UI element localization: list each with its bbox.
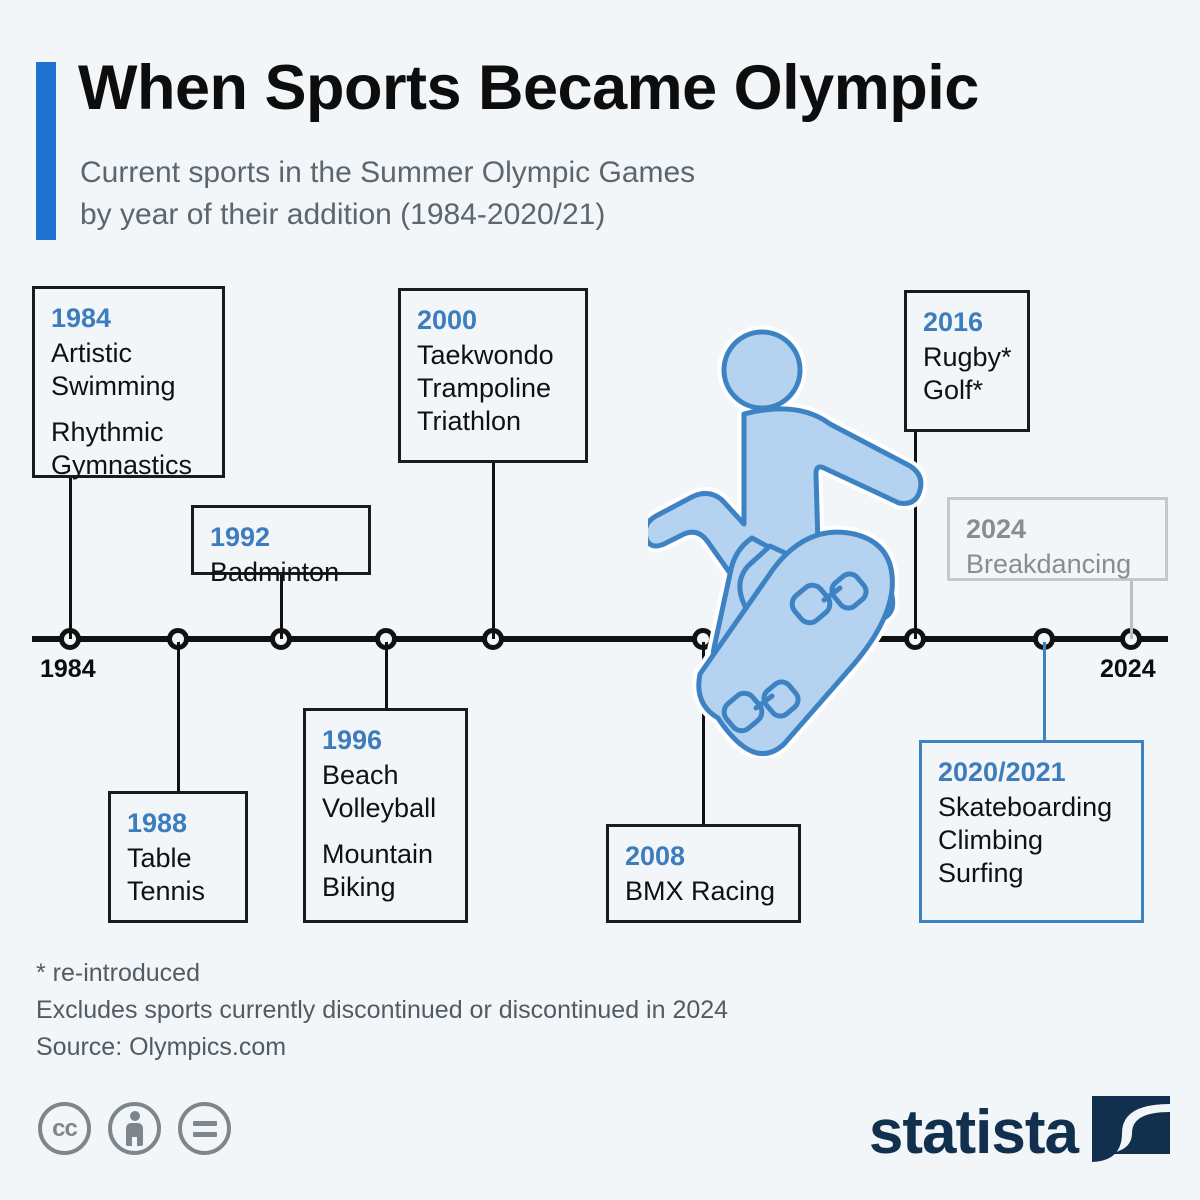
event-box-1996[interactable]: 1996 Beach Volleyball Mountain Biking xyxy=(303,708,468,923)
event-box-1988[interactable]: 1988 Table Tennis xyxy=(108,791,248,923)
event-year-1984: 1984 xyxy=(51,301,208,335)
attribution-icon[interactable] xyxy=(108,1102,161,1155)
title-accent-bar xyxy=(36,62,56,240)
connector-1988 xyxy=(177,642,180,791)
event-year-2008: 2008 xyxy=(625,839,784,873)
event-year-2000: 2000 xyxy=(417,303,571,337)
event-sport-2016-0: Rugby* Golf* xyxy=(923,341,1013,407)
event-year-2024: 2024 xyxy=(966,512,1151,546)
timeline-axis xyxy=(32,636,1168,642)
equals-bar-bottom xyxy=(193,1132,217,1137)
page-subtitle: Current sports in the Summer Olympic Gam… xyxy=(80,152,695,236)
event-year-1988: 1988 xyxy=(127,806,231,840)
person-glyph xyxy=(126,1111,143,1146)
person-body xyxy=(126,1123,143,1146)
event-sport-1996-1: Mountain Biking xyxy=(322,838,451,904)
event-sport-1996-0: Beach Volleyball xyxy=(322,759,451,825)
event-sport-1988-0: Table Tennis xyxy=(127,842,231,908)
no-derivatives-icon[interactable] xyxy=(178,1102,231,1155)
cc-label: cc xyxy=(52,1115,77,1143)
connector-1996 xyxy=(385,642,388,708)
statista-logo[interactable]: statista xyxy=(869,1096,1170,1170)
infographic-canvas: When Sports Became Olympic Current sport… xyxy=(0,0,1200,1200)
event-sport-1984-0: Artistic Swimming xyxy=(51,337,208,403)
axis-end-label: 2024 xyxy=(1100,655,1156,684)
event-box-2020[interactable]: 2020/2021 Skateboarding Climbing Surfing xyxy=(919,740,1144,923)
page-title: When Sports Became Olympic xyxy=(78,52,979,124)
connector-2020 xyxy=(1043,642,1046,740)
connector-2008 xyxy=(702,642,705,824)
equals-glyph xyxy=(193,1121,217,1137)
event-year-1992: 1992 xyxy=(210,520,354,554)
event-sport-1984-1: Rhythmic Gymnastics xyxy=(51,416,208,482)
event-year-2020: 2020/2021 xyxy=(938,755,1127,789)
connector-1984 xyxy=(69,477,72,639)
event-year-2016: 2016 xyxy=(923,305,1013,339)
axis-start-label: 1984 xyxy=(40,655,96,684)
event-box-2016[interactable]: 2016 Rugby* Golf* xyxy=(904,290,1030,432)
event-sport-2020-0: Skateboarding Climbing Surfing xyxy=(938,791,1127,890)
person-head xyxy=(130,1111,140,1121)
event-sport-2008-0: BMX Racing xyxy=(625,875,784,908)
equals-bar-top xyxy=(193,1121,217,1126)
statista-wordmark: statista xyxy=(869,1102,1078,1164)
statista-logo-mark xyxy=(1092,1096,1170,1170)
connector-2016 xyxy=(914,430,917,639)
connector-2000 xyxy=(492,462,495,639)
event-sport-2000-0: Taekwondo Trampoline Triathlon xyxy=(417,339,571,438)
event-box-2008[interactable]: 2008 BMX Racing xyxy=(606,824,801,923)
event-sport-1992-0: Badminton xyxy=(210,556,354,589)
event-sport-2024-0: Breakdancing xyxy=(966,548,1151,581)
event-box-1992[interactable]: 1992 Badminton xyxy=(191,505,371,575)
event-year-1996: 1996 xyxy=(322,723,451,757)
event-box-2000[interactable]: 2000 Taekwondo Trampoline Triathlon xyxy=(398,288,588,463)
footnotes: * re-introduced Excludes sports currentl… xyxy=(36,955,728,1066)
event-box-1984[interactable]: 1984 Artistic Swimming Rhythmic Gymnasti… xyxy=(32,286,225,478)
event-box-2024[interactable]: 2024 Breakdancing xyxy=(947,497,1168,581)
connector-2024 xyxy=(1130,580,1133,639)
creative-commons-icon[interactable]: cc xyxy=(38,1102,91,1155)
license-badges: cc xyxy=(38,1102,231,1155)
